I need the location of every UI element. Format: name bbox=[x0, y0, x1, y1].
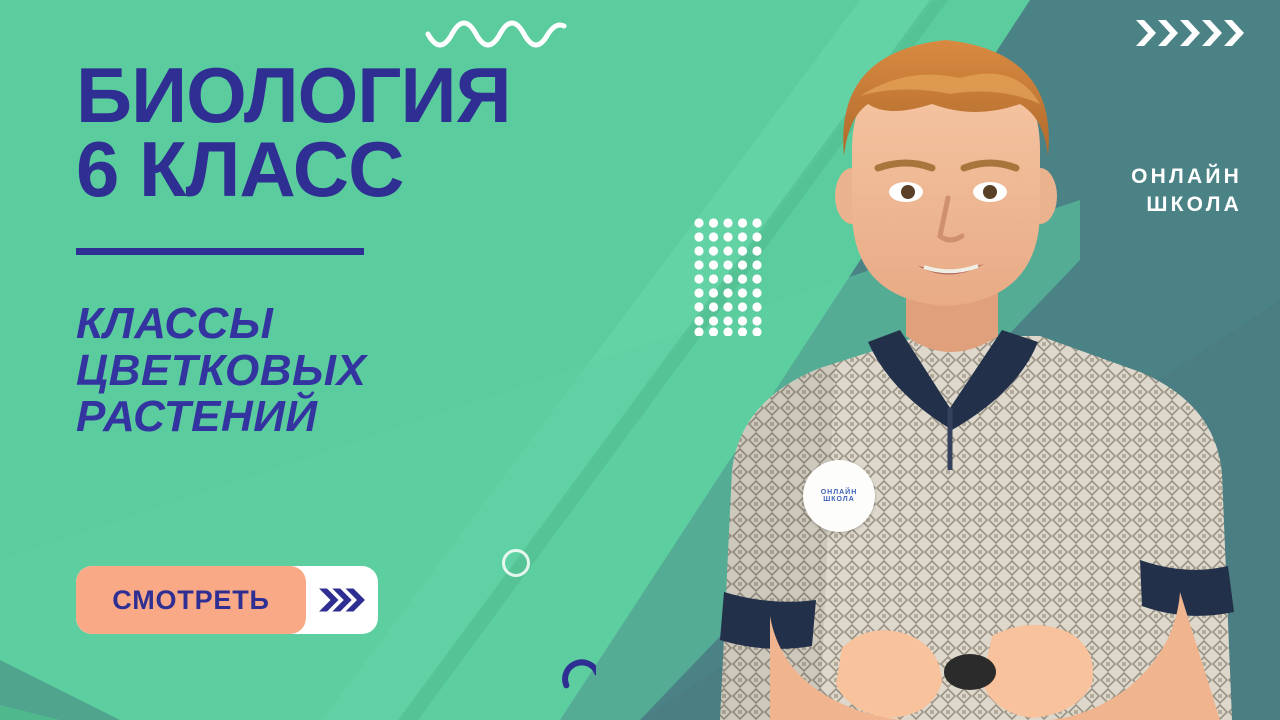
watch-button-label[interactable]: СМОТРЕТЬ bbox=[76, 566, 306, 634]
subtitle-line-3: РАСТЕНИЙ bbox=[76, 394, 716, 441]
triple-chevron-right-icon[interactable] bbox=[306, 566, 378, 634]
presenter-photo: ОНЛАЙН ШКОЛА bbox=[620, 0, 1280, 720]
iris-left bbox=[901, 185, 915, 199]
arc-icon bbox=[556, 655, 596, 695]
badge-line-1: ОНЛАЙН bbox=[821, 489, 858, 496]
title-line-2: 6 КЛАСС bbox=[76, 132, 716, 206]
page-title: БИОЛОГИЯ 6 КЛАСС bbox=[76, 58, 716, 206]
subtitle-line-1: КЛАССЫ bbox=[76, 301, 716, 348]
title-divider bbox=[76, 248, 364, 255]
logo-line-1: ОНЛАЙН bbox=[1131, 163, 1242, 191]
circle-outline-icon bbox=[502, 549, 530, 577]
badge-line-2: ШКОЛА bbox=[823, 496, 855, 503]
watch-button[interactable]: СМОТРЕТЬ bbox=[76, 566, 378, 634]
brand-logo: ОНЛАЙН ШКОЛА bbox=[1131, 163, 1242, 219]
title-line-1: БИОЛОГИЯ bbox=[76, 58, 716, 132]
wavy-line-icon bbox=[424, 16, 574, 56]
copy-block: БИОЛОГИЯ 6 КЛАСС КЛАССЫ ЦВЕТКОВЫХ РАСТЕН… bbox=[76, 58, 716, 441]
subtitle-line-2: ЦВЕТКОВЫХ bbox=[76, 348, 716, 395]
presenter-illustration bbox=[620, 0, 1280, 720]
lapel-badge: ОНЛАЙН ШКОЛА bbox=[803, 460, 875, 532]
page-subtitle: КЛАССЫ ЦВЕТКОВЫХ РАСТЕНИЙ bbox=[76, 301, 716, 441]
held-object bbox=[944, 654, 996, 690]
thumbnail-canvas: ОНЛАЙН ШКОЛА ОНЛАЙН ШКОЛА БИОЛОГИЯ 6 КЛА… bbox=[0, 0, 1280, 720]
logo-line-2: ШКОЛА bbox=[1131, 191, 1242, 219]
iris-right bbox=[983, 185, 997, 199]
